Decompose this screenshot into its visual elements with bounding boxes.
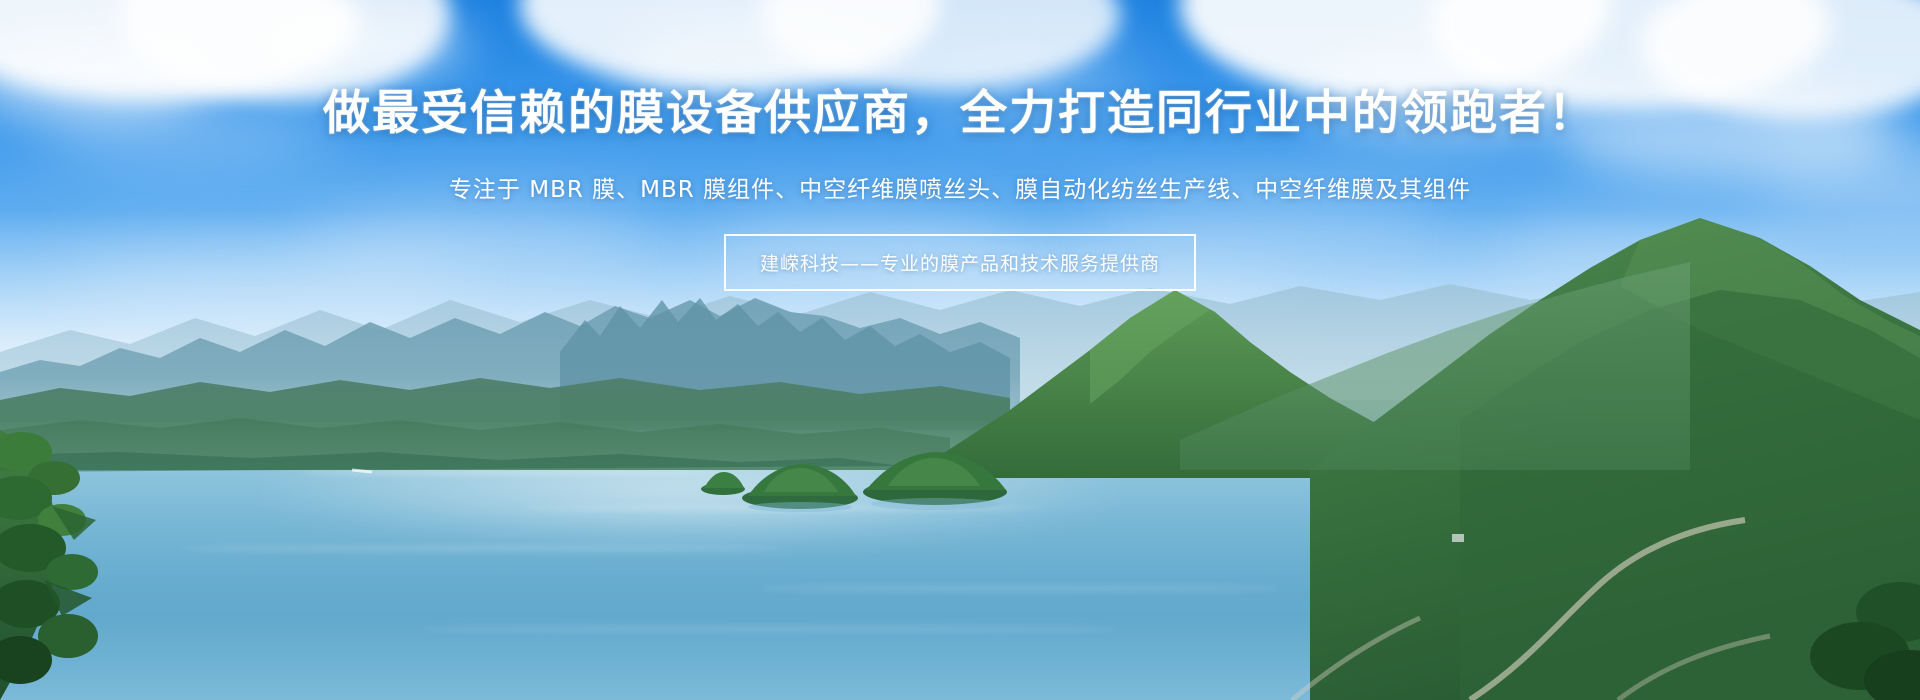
banner-copy: 做最受信赖的膜设备供应商，全力打造同行业中的领跑者！ 专注于 MBR 膜、MBR… xyxy=(0,88,1920,291)
lake-island xyxy=(742,464,858,512)
banner-subheadline: 专注于 MBR 膜、MBR 膜组件、中空纤维膜喷丝头、膜自动化纺丝生产线、中空纤… xyxy=(449,170,1471,204)
lake-island-small xyxy=(701,472,745,495)
banner-tagline-box: 建嵘科技——专业的膜产品和技术服务提供商 xyxy=(724,234,1196,291)
boat-wake xyxy=(352,470,372,472)
banner-headline: 做最受信赖的膜设备供应商，全力打造同行业中的领跑者！ xyxy=(323,88,1597,140)
hero-banner: 做最受信赖的膜设备供应商，全力打造同行业中的领跑者！ 专注于 MBR 膜、MBR… xyxy=(0,0,1920,700)
